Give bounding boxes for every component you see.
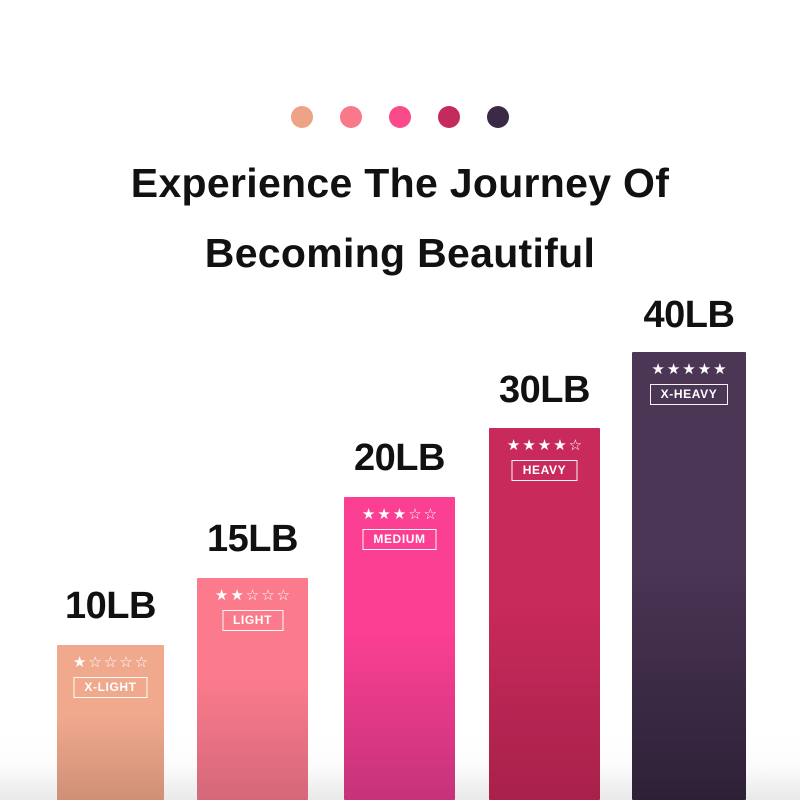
star-filled-icon: ★ — [73, 655, 86, 670]
level-badge-heavy: HEAVY — [512, 460, 577, 481]
bar-group-light[interactable]: 15LB★★☆☆☆LIGHT — [197, 0, 308, 800]
bar-group-heavy[interactable]: 30LB★★★★☆HEAVY — [489, 0, 600, 800]
star-filled-icon: ★ — [553, 438, 566, 453]
star-empty-icon: ☆ — [119, 655, 132, 670]
star-empty-icon: ☆ — [88, 655, 101, 670]
star-filled-icon: ★ — [362, 507, 375, 522]
star-filled-icon: ★ — [667, 362, 680, 377]
star-empty-icon: ☆ — [424, 507, 437, 522]
star-filled-icon: ★ — [682, 362, 695, 377]
level-badge-light: LIGHT — [222, 610, 283, 631]
rating-block-x-light: ★☆☆☆☆X-LIGHT — [57, 655, 164, 698]
star-filled-icon: ★ — [522, 438, 535, 453]
rating-block-heavy: ★★★★☆HEAVY — [489, 438, 600, 481]
resistance-band-bar-chart: 10LB★☆☆☆☆X-LIGHT15LB★★☆☆☆LIGHT20LB★★★☆☆M… — [0, 0, 800, 800]
rating-block-x-heavy: ★★★★★X-HEAVY — [632, 362, 746, 405]
star-filled-icon: ★ — [393, 507, 406, 522]
star-empty-icon: ☆ — [408, 507, 421, 522]
star-filled-icon: ★ — [215, 588, 228, 603]
bar-weight-label-medium: 20LB — [354, 437, 445, 480]
bar-group-x-heavy[interactable]: 40LB★★★★★X-HEAVY — [632, 0, 746, 800]
star-filled-icon: ★ — [698, 362, 711, 377]
rating-block-light: ★★☆☆☆LIGHT — [197, 588, 308, 631]
star-rating-medium: ★★★☆☆ — [362, 507, 437, 522]
star-rating-light: ★★☆☆☆ — [215, 588, 290, 603]
bar-weight-label-heavy: 30LB — [499, 369, 590, 412]
star-filled-icon: ★ — [713, 362, 726, 377]
star-empty-icon: ☆ — [135, 655, 148, 670]
star-empty-icon: ☆ — [246, 588, 259, 603]
star-filled-icon: ★ — [377, 507, 390, 522]
bar-group-x-light[interactable]: 10LB★☆☆☆☆X-LIGHT — [57, 0, 164, 800]
bar-group-medium[interactable]: 20LB★★★☆☆MEDIUM — [344, 0, 455, 800]
bar-weight-label-x-light: 10LB — [65, 585, 156, 628]
bar-weight-label-light: 15LB — [207, 518, 298, 561]
bar-x-heavy[interactable] — [632, 352, 746, 800]
star-empty-icon: ☆ — [104, 655, 117, 670]
star-empty-icon: ☆ — [277, 588, 290, 603]
bar-heavy[interactable] — [489, 428, 600, 800]
level-badge-x-light: X-LIGHT — [73, 677, 147, 698]
star-rating-x-light: ★☆☆☆☆ — [73, 655, 148, 670]
star-filled-icon: ★ — [230, 588, 243, 603]
level-badge-medium: MEDIUM — [362, 529, 436, 550]
level-badge-x-heavy: X-HEAVY — [650, 384, 729, 405]
star-filled-icon: ★ — [507, 438, 520, 453]
product-infographic-poster: Experience The Journey Of Becoming Beaut… — [0, 0, 800, 800]
rating-block-medium: ★★★☆☆MEDIUM — [344, 507, 455, 550]
star-rating-x-heavy: ★★★★★ — [651, 362, 726, 377]
star-empty-icon: ☆ — [261, 588, 274, 603]
star-filled-icon: ★ — [651, 362, 664, 377]
star-rating-heavy: ★★★★☆ — [507, 438, 582, 453]
bar-weight-label-x-heavy: 40LB — [644, 294, 735, 337]
star-filled-icon: ★ — [538, 438, 551, 453]
star-empty-icon: ☆ — [569, 438, 582, 453]
